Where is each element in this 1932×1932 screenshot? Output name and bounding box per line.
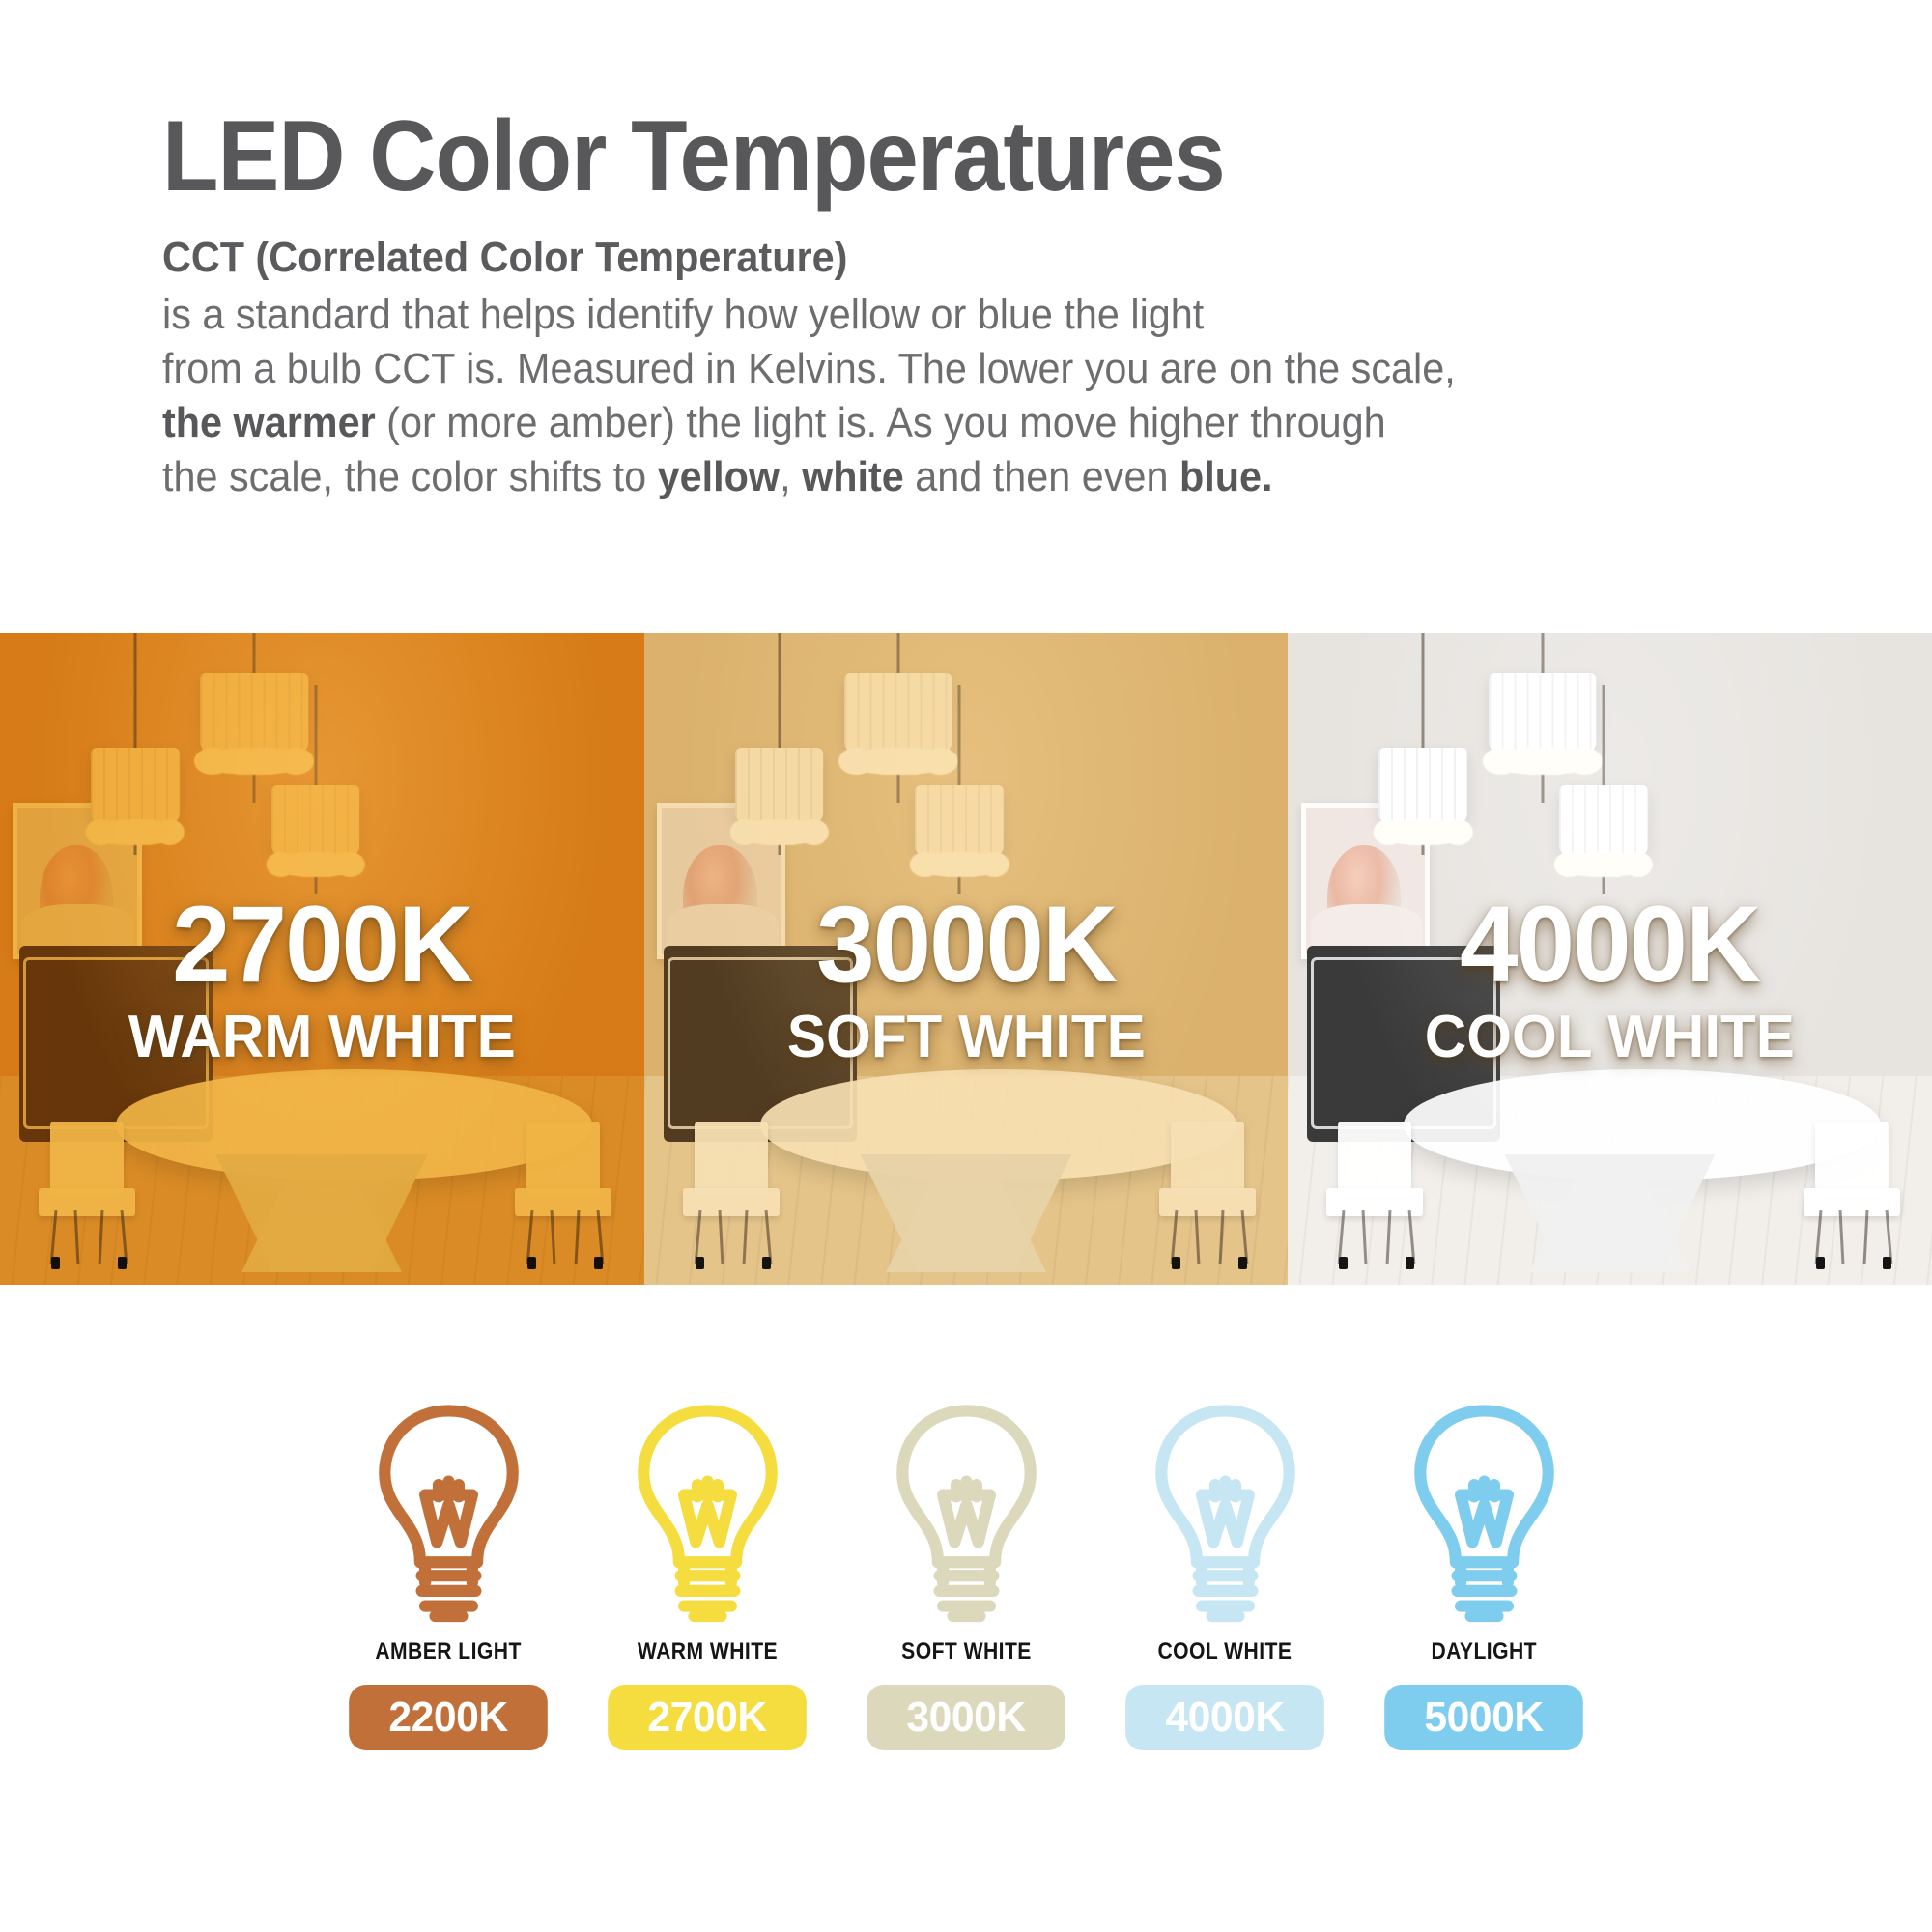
chair-back xyxy=(695,1122,768,1196)
lamp-glow xyxy=(910,852,1009,877)
kelvin-value: 3000K xyxy=(906,1693,1025,1742)
paragraph-line-1: is a standard that helps identify how ye… xyxy=(162,288,1706,342)
lamp-shade xyxy=(1559,785,1648,856)
paragraph-line-3: the warmer (or more amber) the light is.… xyxy=(162,396,1706,450)
chair-leg xyxy=(1219,1210,1225,1265)
lamp-glow xyxy=(266,852,364,877)
chair-back xyxy=(50,1122,124,1196)
chair-leg xyxy=(551,1210,556,1265)
legend-label: SOFT WHITE xyxy=(901,1638,1032,1665)
panel-label-3000k: 3000K SOFT WHITE xyxy=(644,894,1289,1067)
kelvin-value: 5000K xyxy=(1424,1693,1543,1742)
chair-back xyxy=(526,1122,600,1196)
chair-right xyxy=(1159,1122,1256,1265)
legend-label: DAYLIGHT xyxy=(1431,1638,1537,1665)
chair-right xyxy=(1804,1122,1900,1265)
chair-foot xyxy=(1172,1257,1180,1269)
panel-kelvin-value: 2700K xyxy=(10,894,635,996)
photo-panel-4000k: 4000K COOL WHITE xyxy=(1288,633,1932,1285)
chair-foot xyxy=(1883,1257,1891,1269)
chair-leg xyxy=(99,1210,104,1265)
legend-label: AMBER LIGHT xyxy=(375,1638,521,1665)
chair-leg xyxy=(575,1210,581,1265)
bold-blue: blue. xyxy=(1179,453,1273,500)
paragraph-line-4-mid: and then even xyxy=(904,453,1179,500)
lightbulb-icon xyxy=(1400,1401,1569,1623)
paragraph-line-4-sep: , xyxy=(780,453,802,500)
paragraph-line-2: from a bulb CCT is. Measured in Kelvins.… xyxy=(162,342,1706,396)
legend-item-amber-light[interactable]: AMBER LIGHT 2200K xyxy=(319,1401,578,1884)
chair-foot xyxy=(1816,1257,1825,1269)
lamp-shade xyxy=(271,785,360,856)
bold-yellow: yellow xyxy=(658,453,780,500)
legend-label: COOL WHITE xyxy=(1158,1638,1293,1665)
chair-left xyxy=(1326,1122,1423,1265)
paragraph-line-4: the scale, the color shifts to yellow, w… xyxy=(162,450,1706,504)
chair-right xyxy=(515,1122,611,1265)
chair-left xyxy=(683,1122,780,1265)
chair-left xyxy=(39,1122,135,1265)
pendant-lamp-c xyxy=(1552,685,1656,894)
chair-leg xyxy=(1362,1210,1368,1265)
chair-leg xyxy=(718,1210,724,1265)
kelvin-badge[interactable]: 3000K xyxy=(867,1685,1065,1750)
chair-leg xyxy=(74,1210,80,1265)
lamp-glow xyxy=(1554,852,1653,877)
kelvin-badge[interactable]: 2700K xyxy=(608,1685,807,1750)
kelvin-badge[interactable]: 2200K xyxy=(349,1685,548,1750)
bulb-legend-row: AMBER LIGHT 2200K WARM WHITE xyxy=(0,1401,1932,1884)
lamp-glow xyxy=(86,819,185,846)
kelvin-value: 2700K xyxy=(647,1693,766,1742)
chair-leg xyxy=(1386,1210,1392,1265)
panel-temperature-name: SOFT WHITE xyxy=(654,1008,1279,1067)
kelvin-value: 2200K xyxy=(388,1693,507,1742)
chair-foot xyxy=(527,1257,536,1269)
panel-kelvin-value: 4000K xyxy=(1297,894,1922,996)
kelvin-badge[interactable]: 4000K xyxy=(1125,1685,1324,1750)
lightbulb-icon xyxy=(364,1401,533,1623)
panel-kelvin-value: 3000K xyxy=(654,894,1279,996)
lightbulb-icon xyxy=(1141,1401,1310,1623)
legend-item-cool-white[interactable]: COOL WHITE 4000K xyxy=(1095,1401,1354,1884)
photo-panel-2700k: 2700K WARM WHITE xyxy=(0,633,644,1285)
pendant-lamp-c xyxy=(908,685,1011,894)
chair-foot xyxy=(1238,1257,1247,1269)
lamp-shade xyxy=(1378,748,1467,823)
legend-item-soft-white[interactable]: SOFT WHITE 3000K xyxy=(837,1401,1095,1884)
chair-back xyxy=(1338,1122,1411,1196)
bold-white: white xyxy=(802,453,904,500)
pendant-lamp-a xyxy=(1372,633,1475,855)
chair-back xyxy=(1815,1122,1889,1196)
legend-label: WARM WHITE xyxy=(637,1638,777,1665)
chair-leg xyxy=(1838,1210,1844,1265)
subtitle: CCT (Correlated Color Temperature) xyxy=(162,234,1706,282)
infographic-page: LED Color Temperatures CCT (Correlated C… xyxy=(0,0,1932,1932)
chair-leg xyxy=(1862,1210,1868,1265)
paragraph-line-3-rest: (or more amber) the light is. As you mov… xyxy=(376,399,1386,446)
legend-item-warm-white[interactable]: WARM WHITE 2700K xyxy=(578,1401,837,1884)
panel-label-2700k: 2700K WARM WHITE xyxy=(0,894,644,1067)
chair-foot xyxy=(118,1257,127,1269)
lamp-shade xyxy=(735,748,824,823)
chair-foot xyxy=(1339,1257,1348,1269)
panel-temperature-name: COOL WHITE xyxy=(1297,1008,1922,1067)
panel-temperature-name: WARM WHITE xyxy=(10,1008,635,1067)
panel-label-4000k: 4000K COOL WHITE xyxy=(1288,894,1932,1067)
lamp-glow xyxy=(1374,819,1472,846)
header-block: LED Color Temperatures CCT (Correlated C… xyxy=(162,106,1804,504)
chair-foot xyxy=(594,1257,603,1269)
lightbulb-icon xyxy=(882,1401,1051,1623)
chair-foot xyxy=(696,1257,704,1269)
lamp-glow xyxy=(729,819,828,846)
chair-back xyxy=(1171,1122,1244,1196)
kelvin-value: 4000K xyxy=(1165,1693,1284,1742)
kelvin-badge[interactable]: 5000K xyxy=(1384,1685,1583,1750)
photo-comparison-strip: 2700K WARM WHITE xyxy=(0,633,1932,1285)
bold-the-warmer: the warmer xyxy=(162,399,376,446)
paragraph-line-4-pre: the scale, the color shifts to xyxy=(162,453,658,500)
chair-leg xyxy=(742,1210,748,1265)
photo-panel-3000k: 3000K SOFT WHITE xyxy=(644,633,1289,1285)
lamp-shade xyxy=(915,785,1004,856)
lamp-shade xyxy=(91,748,180,823)
pendant-lamp-c xyxy=(264,685,367,894)
lightbulb-icon xyxy=(623,1401,792,1623)
page-title: LED Color Temperatures xyxy=(162,106,1673,207)
legend-item-daylight[interactable]: DAYLIGHT 5000K xyxy=(1354,1401,1613,1884)
chair-foot xyxy=(51,1257,60,1269)
pendant-lamp-a xyxy=(84,633,187,855)
description-paragraph: is a standard that helps identify how ye… xyxy=(162,288,1804,504)
chair-leg xyxy=(1195,1210,1201,1265)
pendant-lamp-a xyxy=(727,633,831,855)
chair-foot xyxy=(762,1257,771,1269)
chair-foot xyxy=(1406,1257,1414,1269)
